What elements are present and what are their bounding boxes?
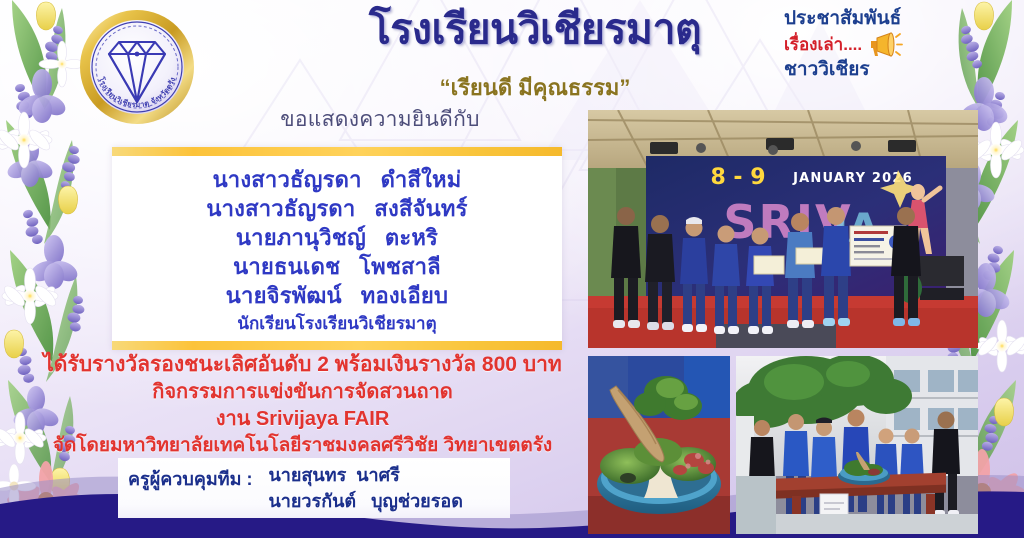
- gold-bar-top: [112, 147, 562, 156]
- pr-badge: ประชาสัมพันธ์ เรื่องเล่า.... ชาววิเชียร: [784, 8, 964, 81]
- student-name: นายจิรพัฒน์ ทองเอียบ: [112, 281, 562, 310]
- team-with-tray-garden-photo: [736, 356, 978, 534]
- team-advisors-label: ครูผู้ควบคุมทีม :: [128, 463, 252, 493]
- award-line-organizer: จัดโดยมหาวิทยาลัยเทคโนโลยีราชมงคลศรีวิชั…: [30, 433, 575, 459]
- advisor-name: นายวรกันต์ บุญช่วยรอด: [268, 489, 462, 515]
- award-line-activity: กิจกรรมการแข่งขันการจัดสวนถาด: [30, 379, 575, 406]
- award-description: ได้รับรางวัลรองชนะเลิศอันดับ 2 พร้อมเงิน…: [30, 352, 575, 459]
- student-name: นายธนเดช โพชสาลี: [112, 252, 562, 281]
- school-title: โรงเรียนวิเชียรมาตุ: [300, 8, 770, 51]
- svg-text:8 - 9: 8 - 9: [710, 165, 765, 190]
- pr-badge-line-2: เรื่องเล่า....: [784, 35, 862, 54]
- school-motto: “เรียนดี มีคุณธรรม”: [300, 70, 770, 105]
- team-advisors-row: ครูผู้ควบคุมทีม : นายสุนทร นาศรี นายวรกั…: [118, 458, 510, 514]
- tray-garden-closeup-photo: [588, 356, 730, 534]
- student-name: นางสาวธัญรดา ดำสีใหม่: [112, 165, 562, 194]
- student-name: นางสาวธัญรดา สงสีจันทร์: [112, 194, 562, 223]
- award-ceremony-photo: 8 - 9 JANUARY 2026 SRIV JA: [588, 110, 978, 348]
- student-name: นายภานุวิชญ์ ตะหริ: [112, 223, 562, 252]
- student-names-list: นางสาวธัญรดา ดำสีใหม่ นางสาวธัญรดา สงสีจ…: [112, 156, 562, 341]
- gold-bar-bottom: [112, 341, 562, 350]
- team-advisors-panel: ครูผู้ควบคุมทีม : นายสุนทร นาศรี นายวรกั…: [118, 458, 510, 518]
- advisor-name: นายสุนทร นาศรี: [268, 463, 462, 489]
- award-line-event: งาน Srivijaya FAIR: [30, 406, 575, 433]
- megaphone-icon: [868, 29, 904, 59]
- pr-badge-line-1: ประชาสัมพันธ์: [784, 8, 964, 29]
- pr-badge-middle-row: เรื่องเล่า....: [784, 29, 964, 59]
- congratulations-poster: โรงเรียนวิเชียรมาตุ จังหวัดตรัง โรงเรียน…: [0, 0, 1024, 538]
- team-advisors-names: นายสุนทร นาศรี นายวรกันต์ บุญช่วยรอด: [268, 463, 462, 514]
- award-line-prize: ได้รับรางวัลรองชนะเลิศอันดับ 2 พร้อมเงิน…: [30, 352, 575, 379]
- student-names-panel: นางสาวธัญรดา ดำสีใหม่ นางสาวธัญรดา สงสีจ…: [112, 147, 562, 350]
- congratulations-intro: ขอแสดงความยินดีกับ: [160, 103, 600, 136]
- student-affiliation: นักเรียนโรงเรียนวิเชียรมาตุ: [112, 310, 562, 337]
- pr-badge-line-3: ชาววิเชียร: [784, 59, 964, 80]
